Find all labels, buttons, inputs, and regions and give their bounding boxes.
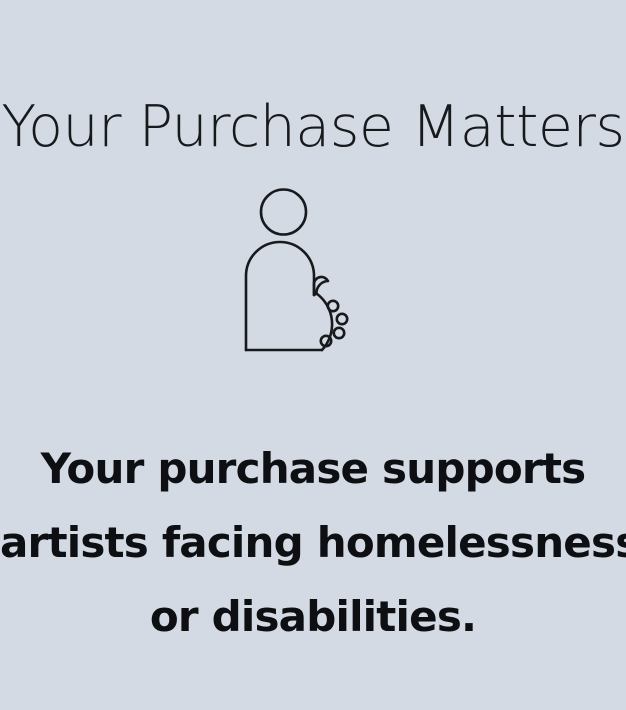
artist-with-palette-icon (238, 186, 388, 366)
paint-well-icon (334, 328, 344, 338)
paint-well-icon (337, 314, 347, 324)
paint-well-icon (328, 301, 338, 311)
torso-icon (246, 242, 314, 350)
icon-container (0, 186, 626, 366)
head-icon (261, 190, 306, 235)
copy-line-1: Your purchase supports (0, 432, 626, 506)
page-title: Your Purchase Matters (0, 96, 626, 159)
supporting-copy: Your purchase supports artists facing ho… (0, 432, 626, 654)
copy-line-2: artists facing homelessness (0, 506, 626, 580)
purchase-matters-card: Your Purchase Matters Your purchase (0, 0, 626, 710)
copy-line-3: or disabilities. (0, 580, 626, 654)
